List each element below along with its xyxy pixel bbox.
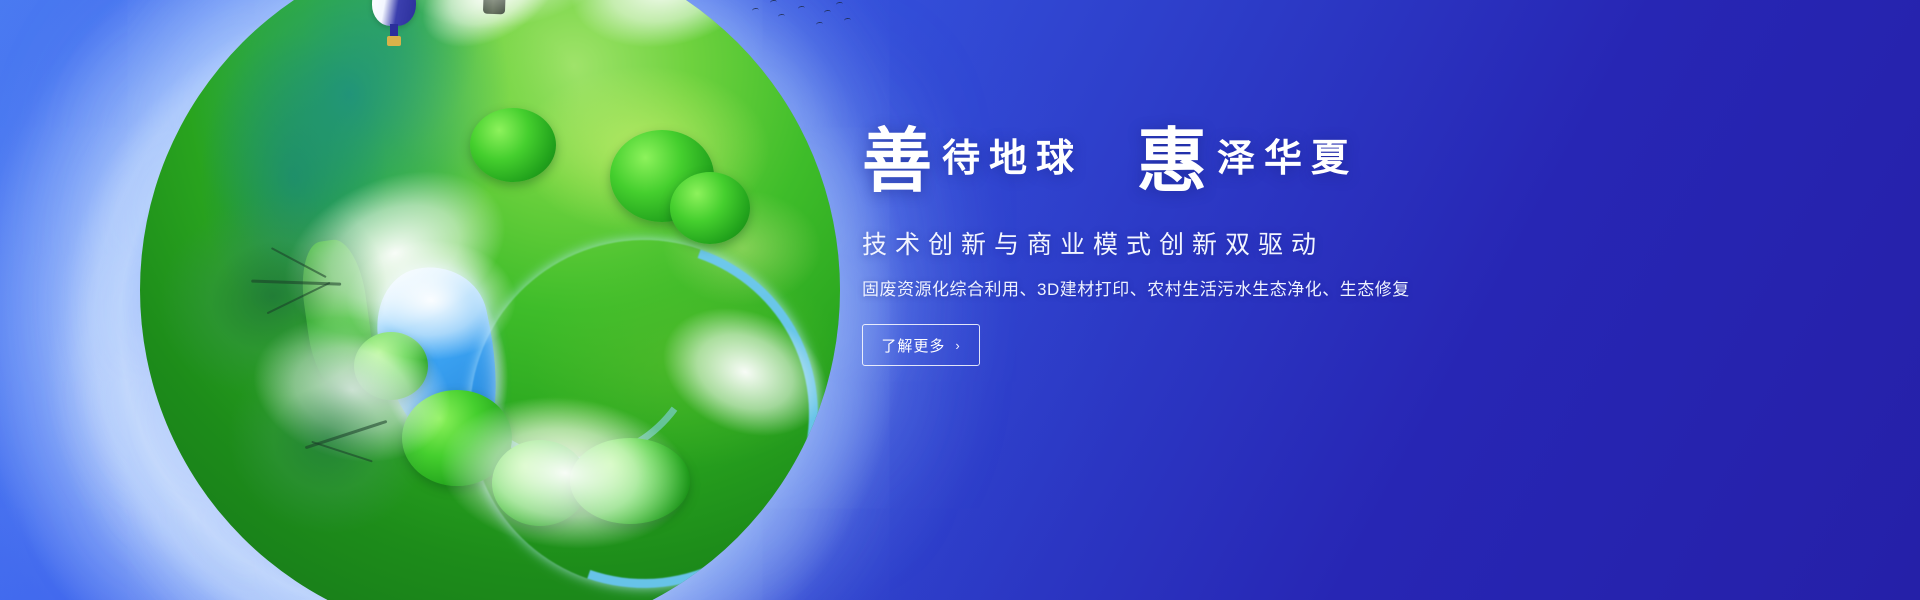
- hero-subtitle: 技术创新与商业模式创新双驱动: [862, 228, 1762, 262]
- birds-flock-icon: [736, 0, 856, 34]
- hero-banner: 善待地球惠泽华夏 技术创新与商业模式创新双驱动 固废资源化综合利用、3D建材打印…: [0, 0, 1920, 600]
- hero-description: 固废资源化综合利用、3D建材打印、农村生活污水生态净化、生态修复: [862, 278, 1762, 302]
- headline-char-primary-2: 惠: [1137, 124, 1207, 201]
- balloon-envelope: [372, 0, 416, 26]
- headline-phrase-1: 待地球: [932, 138, 1083, 180]
- balloon-neck: [390, 24, 398, 36]
- bush: [670, 172, 750, 244]
- headline-phrase-2: 泽华夏: [1207, 138, 1358, 180]
- hero-copy: 善待地球惠泽华夏 技术创新与商业模式创新双驱动 固废资源化综合利用、3D建材打印…: [862, 128, 1762, 366]
- chevron-right-icon: ›: [955, 338, 960, 353]
- bush: [470, 108, 556, 182]
- hero-headline: 善待地球惠泽华夏: [862, 128, 1762, 214]
- tiny-planet-artwork: [140, 0, 840, 600]
- headline-char-primary-1: 善: [862, 124, 932, 201]
- learn-more-button[interactable]: 了解更多 ›: [862, 324, 980, 366]
- hot-air-balloon-icon: [372, 0, 416, 56]
- learn-more-label: 了解更多: [881, 335, 945, 356]
- balloon-basket: [387, 36, 401, 46]
